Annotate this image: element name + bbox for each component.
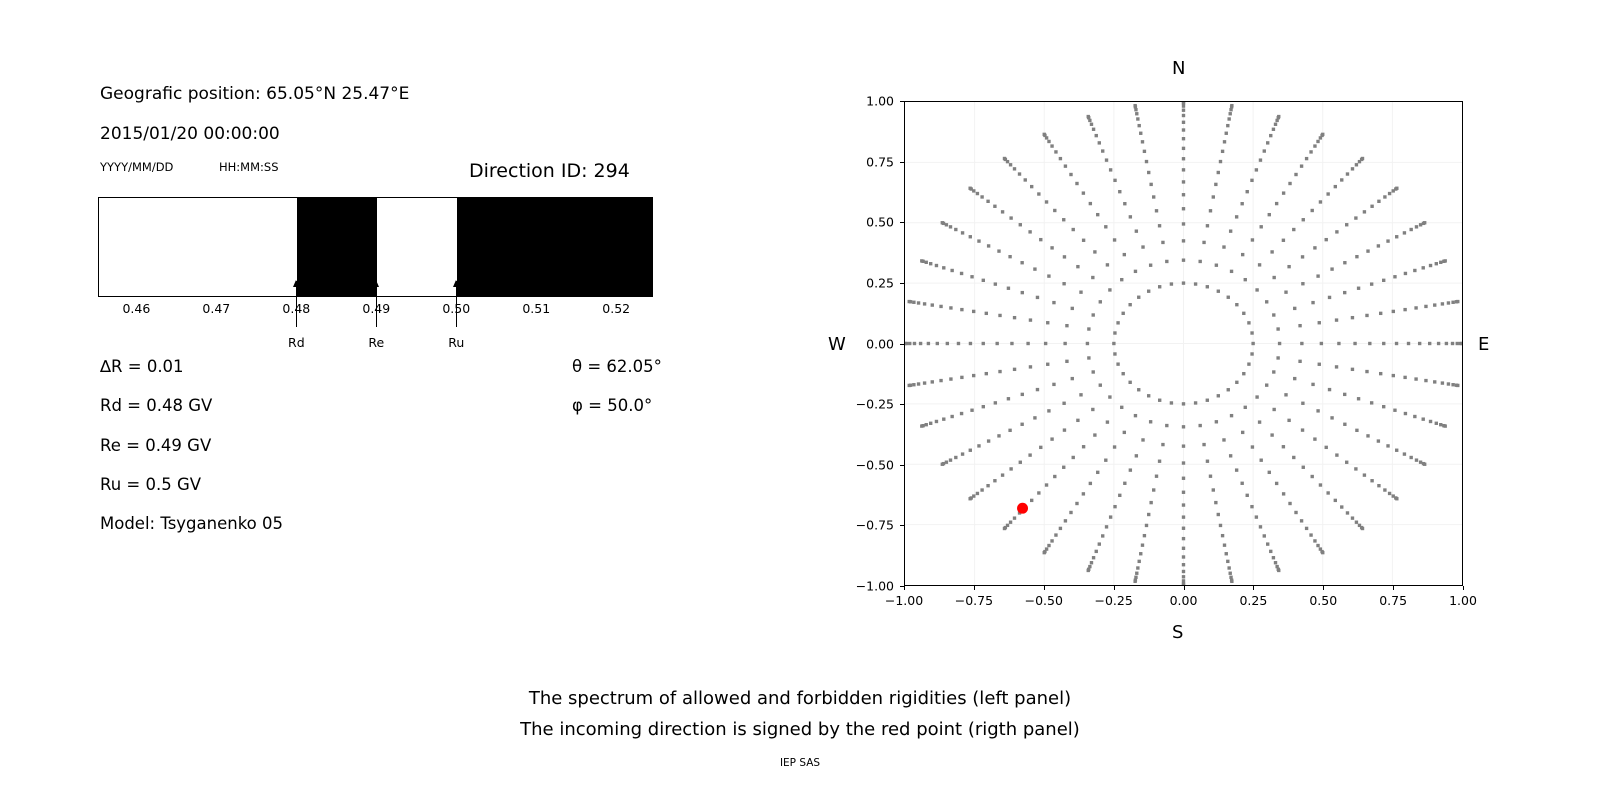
footer-attribution: IEP SAS xyxy=(0,757,1600,769)
spectrum-marker-arrow-rd xyxy=(296,281,297,327)
selected-direction-marker xyxy=(1017,503,1028,514)
param-model: Model: Tsyganenko 05 xyxy=(100,514,283,533)
spectrum-marker-arrow-ru xyxy=(456,281,457,327)
direction-id-label: Direction ID: 294 xyxy=(469,160,630,182)
param-ru: Ru = 0.5 GV xyxy=(100,475,201,494)
param-re: Re = 0.49 GV xyxy=(100,436,211,455)
sky-x-tickmark xyxy=(1114,586,1115,590)
spectrum-marker-label-rd: Rd xyxy=(288,335,305,350)
date-format-hint: YYYY/MM/DD xyxy=(100,160,173,174)
sky-y-tick-label: 0.50 xyxy=(842,215,894,230)
sky-plot-area xyxy=(904,101,1463,586)
compass-label-west: W xyxy=(828,334,846,355)
geographic-position-label: Geografic position: 65.05°N 25.47°E xyxy=(100,84,409,104)
sky-x-tick-label: 0.25 xyxy=(1239,593,1267,608)
sky-y-tickmark xyxy=(900,525,904,526)
sky-y-tickmark xyxy=(900,344,904,345)
sky-y-tick-label: −0.50 xyxy=(842,457,894,472)
sky-x-tickmark xyxy=(1323,586,1324,590)
param-phi: φ = 50.0° xyxy=(572,396,652,415)
sky-x-tickmark xyxy=(904,586,905,590)
sky-y-tickmark xyxy=(900,283,904,284)
sky-y-tick-label: 0.75 xyxy=(842,154,894,169)
datetime-label: 2015/01/20 00:00:00 xyxy=(100,124,280,144)
sky-x-tickmark xyxy=(1253,586,1254,590)
sky-scatter-svg xyxy=(905,102,1462,585)
spectrum-tick-label: 0.51 xyxy=(522,301,550,316)
sky-x-tickmark xyxy=(1393,586,1394,590)
sky-x-tick-label: 0.50 xyxy=(1309,593,1337,608)
param-rd: Rd = 0.48 GV xyxy=(100,396,212,415)
spectrum-marker-label-ru: Ru xyxy=(448,335,464,350)
sky-x-tick-label: −0.75 xyxy=(955,593,993,608)
sky-y-tick-label: 0.25 xyxy=(842,275,894,290)
sky-x-tick-label: 0.00 xyxy=(1170,593,1198,608)
sky-y-tickmark xyxy=(900,162,904,163)
sky-y-tickmark xyxy=(900,465,904,466)
spectrum-band-allowed xyxy=(99,198,297,296)
sky-y-tickmark xyxy=(900,586,904,587)
sky-x-tick-label: −0.25 xyxy=(1094,593,1132,608)
sky-direction-chart: −1.00−0.75−0.50−0.250.000.250.500.751.00… xyxy=(904,101,1463,586)
compass-label-north: N xyxy=(1172,58,1185,79)
caption-line-1: The spectrum of allowed and forbidden ri… xyxy=(0,688,1600,709)
param-delta-r: ∆R = 0.01 xyxy=(100,357,184,376)
sky-y-tick-label: −0.75 xyxy=(842,518,894,533)
sky-x-tick-label: 1.00 xyxy=(1449,593,1477,608)
sky-y-tickmark xyxy=(900,404,904,405)
spectrum-marker-arrow-re xyxy=(376,281,377,327)
sky-y-tick-label: −1.00 xyxy=(842,579,894,594)
rigidity-spectrum-chart: 0.460.470.480.490.500.510.52RdReRu xyxy=(98,197,653,297)
sky-x-tickmark xyxy=(1044,586,1045,590)
time-format-hint: HH:MM:SS xyxy=(219,160,279,174)
sky-y-tickmark xyxy=(900,222,904,223)
sky-x-tickmark xyxy=(1184,586,1185,590)
spectrum-marker-label-re: Re xyxy=(368,335,384,350)
spectrum-tick-label: 0.46 xyxy=(122,301,150,316)
sky-y-tickmark xyxy=(900,101,904,102)
spectrum-tick-label: 0.52 xyxy=(602,301,630,316)
spectrum-tick-label: 0.47 xyxy=(202,301,230,316)
sky-gridlines xyxy=(905,102,1462,585)
caption-line-2: The incoming direction is signed by the … xyxy=(0,719,1600,740)
sky-y-tick-label: −0.25 xyxy=(842,397,894,412)
compass-label-east: E xyxy=(1478,334,1489,355)
spectrum-band-forbidden xyxy=(297,198,377,296)
sky-y-tick-label: 1.00 xyxy=(842,94,894,109)
spectrum-band-forbidden xyxy=(457,198,653,296)
spectrum-band-allowed xyxy=(377,198,457,296)
compass-label-south: S xyxy=(1172,622,1183,643)
sky-y-tick-label: 0.00 xyxy=(842,336,894,351)
sky-x-tick-label: −1.00 xyxy=(885,593,923,608)
sky-x-tickmark xyxy=(1463,586,1464,590)
sky-x-tick-label: 0.75 xyxy=(1379,593,1407,608)
sky-x-tick-label: −0.50 xyxy=(1025,593,1063,608)
param-theta: θ = 62.05° xyxy=(572,357,662,376)
sky-x-tickmark xyxy=(974,586,975,590)
